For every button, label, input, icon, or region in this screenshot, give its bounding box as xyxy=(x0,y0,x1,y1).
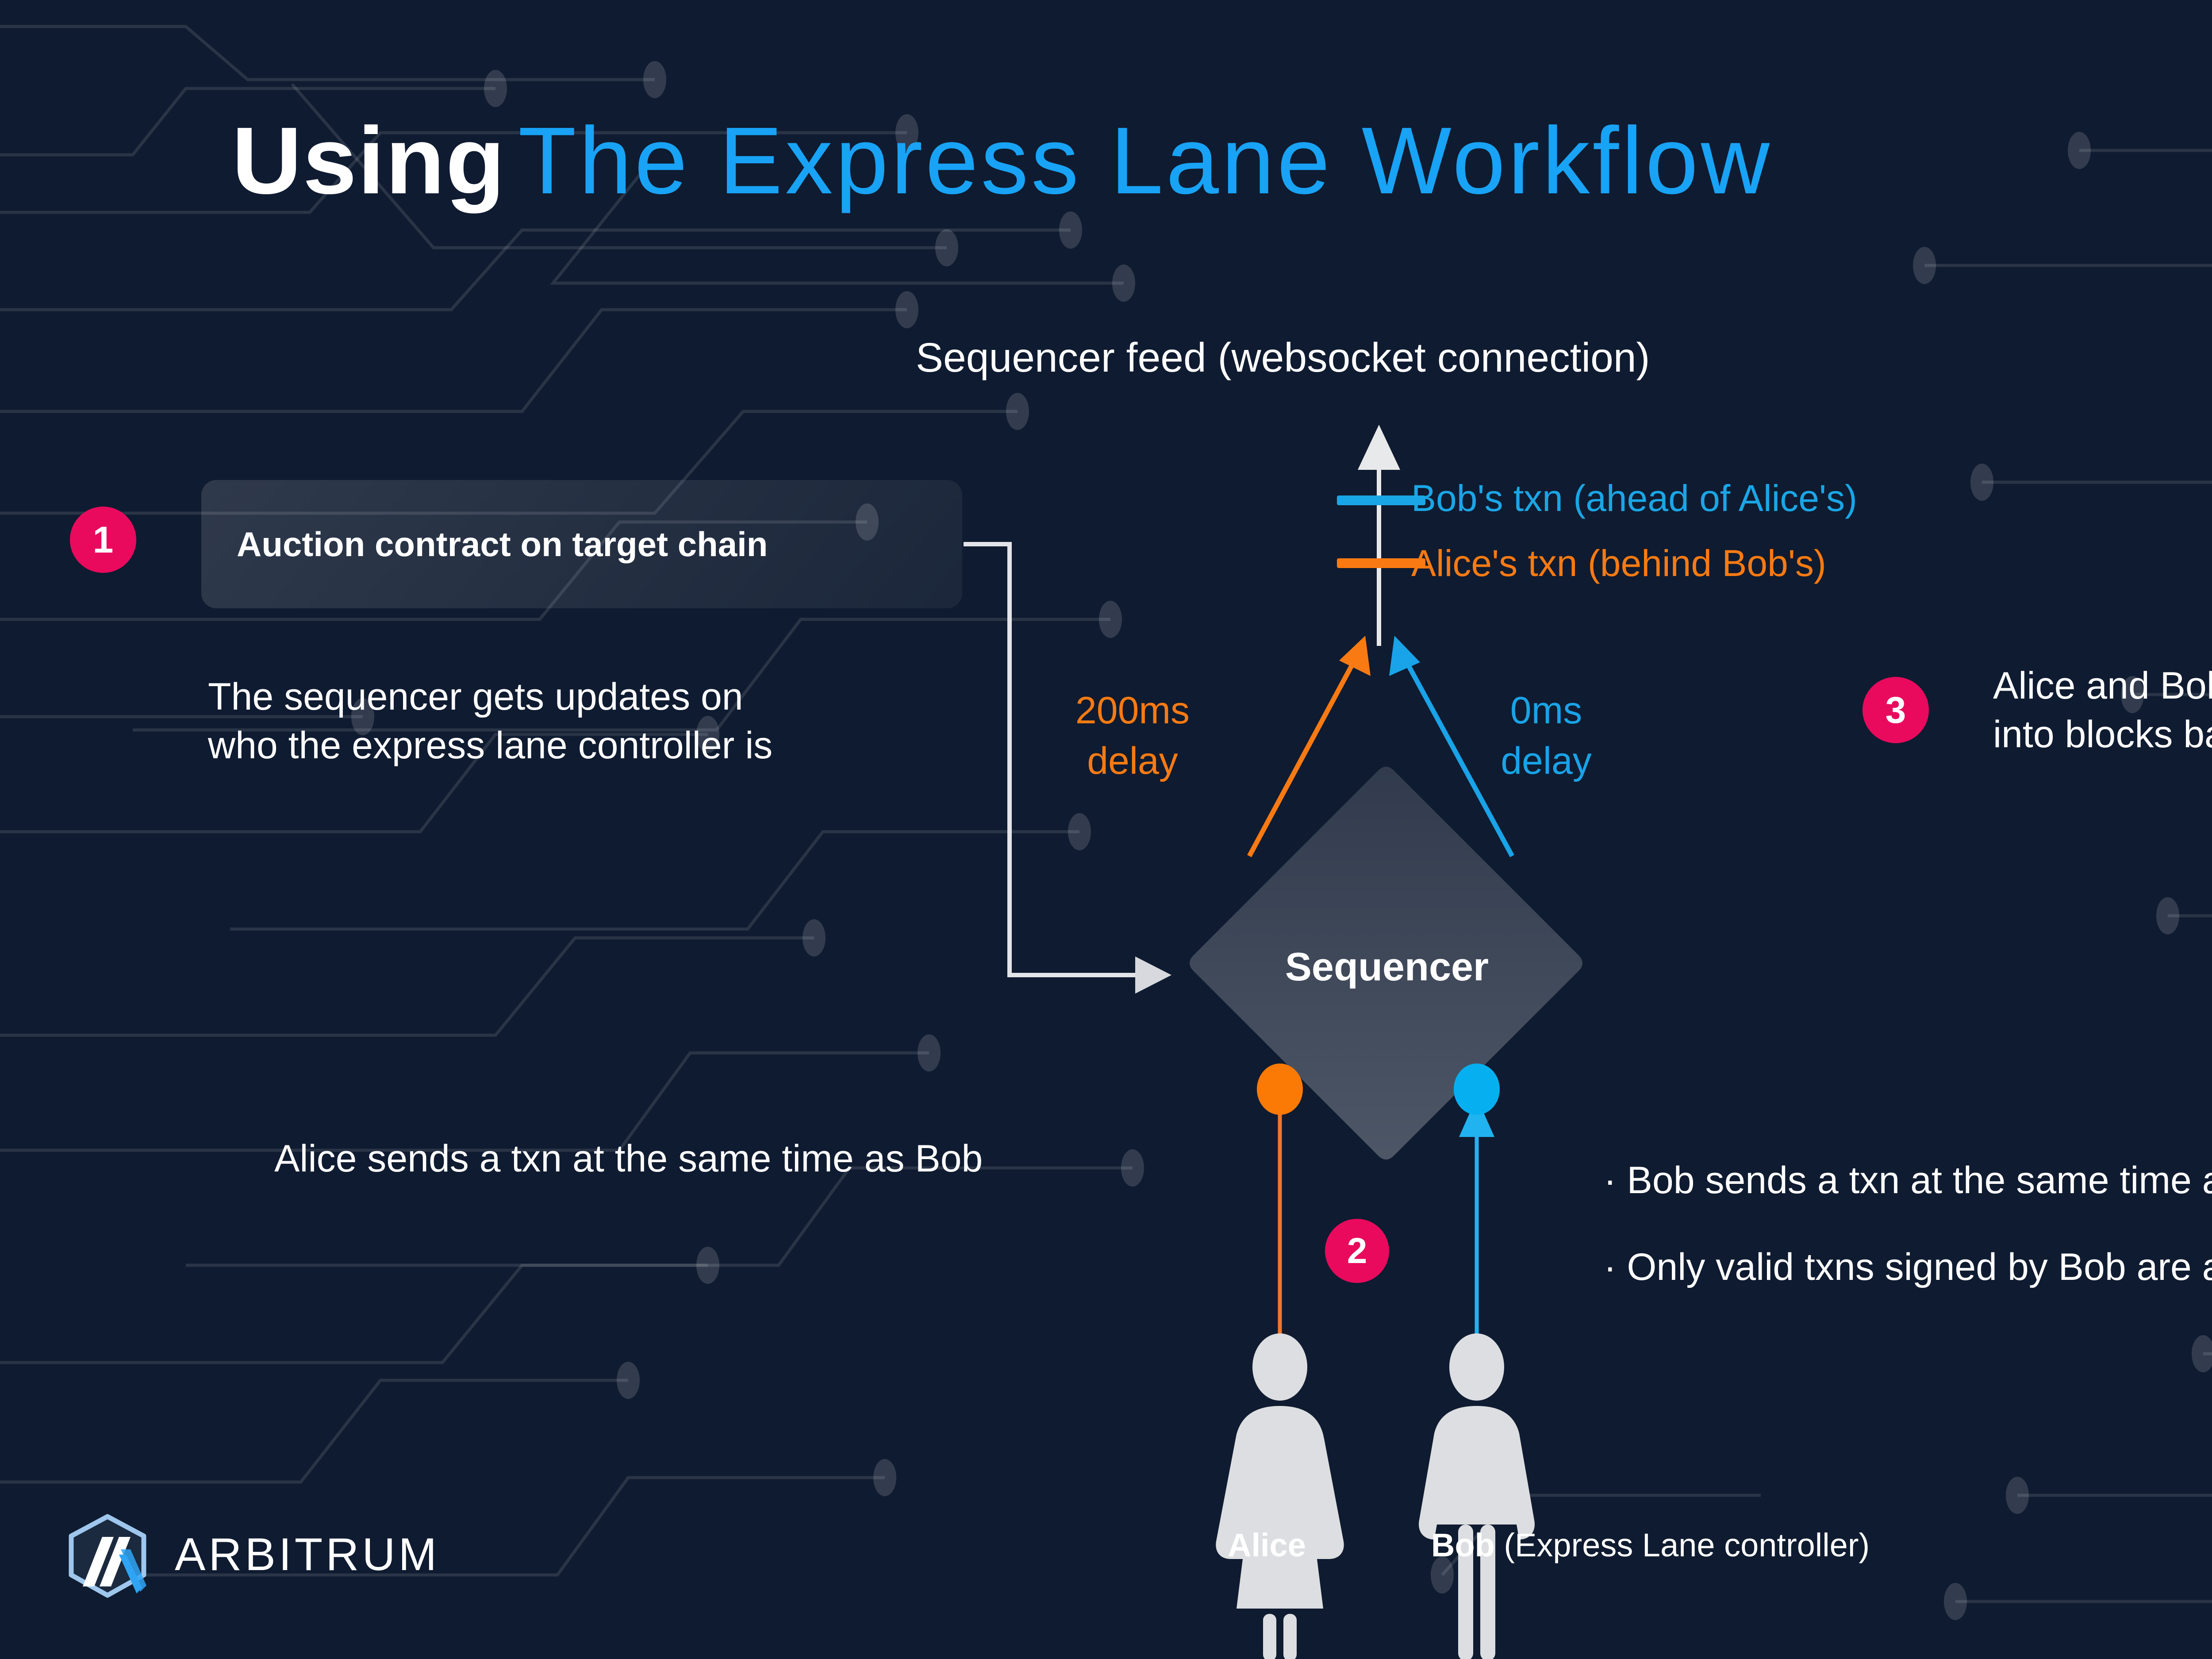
alice-figure xyxy=(1216,1333,1344,1659)
alice-name-label: Alice xyxy=(1228,1526,1306,1564)
auction-contract-card[interactable]: Auction contract on target chain xyxy=(201,480,962,608)
sequencer-label: Sequencer xyxy=(1256,945,1517,990)
legend-label-alice: Alice's txn (behind Bob's) xyxy=(1411,542,1826,585)
step3-text: Alice and Bob's txns get ordered into bl… xyxy=(1993,661,2212,759)
bob-name-label: Bob (Express Lane controller) xyxy=(1431,1526,1870,1564)
alice-delay-label: 200ms delay xyxy=(1060,686,1206,786)
alice-sends-text: Alice sends a txn at the same time as Bo… xyxy=(274,1137,983,1181)
auction-contract-label: Auction contract on target chain xyxy=(237,524,768,565)
bob-bullet-list: · Bob sends a txn at the same time as Al… xyxy=(1604,1137,2212,1310)
slide-canvas: UsingThe Express Lane Workflow Sequencer… xyxy=(0,0,2212,1659)
step-badge-1[interactable]: 1 xyxy=(70,507,136,573)
bob-name-bold: Bob xyxy=(1431,1527,1495,1563)
sequencer-updates-text: The sequencer gets updates on who the ex… xyxy=(208,672,772,770)
feed-axis-arrow xyxy=(1358,425,1400,646)
arbitrum-wordmark: ARBITRUM xyxy=(175,1528,440,1581)
alice-txn-dot xyxy=(1257,1064,1303,1115)
bob-txn-dot xyxy=(1454,1064,1500,1115)
bob-figure xyxy=(1419,1333,1535,1659)
bob-delay-label: 0ms delay xyxy=(1478,686,1615,786)
legend-label-bob: Bob's txn (ahead of Alice's) xyxy=(1411,477,1857,520)
bob-role-suffix: (Express Lane controller) xyxy=(1495,1527,1870,1563)
diagram-vectors xyxy=(0,0,2212,1659)
step-badge-2[interactable]: 2 xyxy=(1325,1219,1389,1283)
step-badge-3[interactable]: 3 xyxy=(1863,677,1929,743)
